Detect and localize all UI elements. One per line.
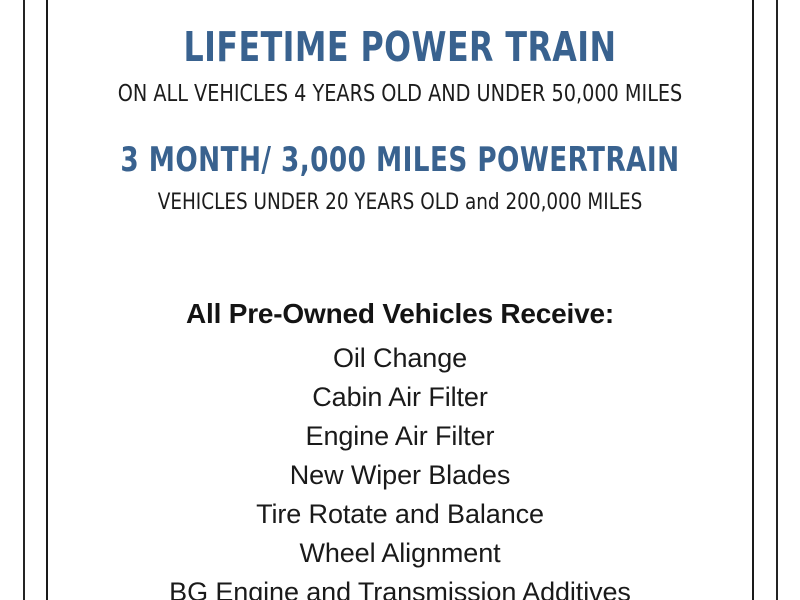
list-item: Tire Rotate and Balance bbox=[48, 495, 752, 534]
list-item: New Wiper Blades bbox=[48, 456, 752, 495]
warranty-subheading-3-month-powertrain: VEHICLES UNDER 20 YEARS OLD and 200,000 … bbox=[73, 192, 728, 214]
flyer-content: LIFETIME POWER TRAIN ON ALL VEHICLES 4 Y… bbox=[48, 0, 752, 600]
warranty-heading-3-month-powertrain: 3 MONTH/ 3,000 MILES POWERTRAIN bbox=[97, 143, 702, 177]
warranty-flyer: LIFETIME POWER TRAIN ON ALL VEHICLES 4 Y… bbox=[0, 0, 800, 600]
services-list: Oil Change Cabin Air Filter Engine Air F… bbox=[48, 339, 752, 600]
frame-rule-right-inner bbox=[752, 0, 754, 600]
list-item: Wheel Alignment bbox=[48, 534, 752, 573]
warranty-heading-lifetime-powertrain: LIFETIME POWER TRAIN bbox=[97, 27, 702, 68]
list-item: BG Engine and Transmission Additives bbox=[48, 573, 752, 600]
frame-rule-right-outer bbox=[776, 0, 778, 600]
list-item: Oil Change bbox=[48, 339, 752, 378]
services-heading: All Pre-Owned Vehicles Receive: bbox=[48, 300, 752, 328]
warranty-subheading-lifetime-powertrain: ON ALL VEHICLES 4 YEARS OLD AND UNDER 50… bbox=[73, 83, 728, 106]
list-item: Engine Air Filter bbox=[48, 417, 752, 456]
frame-rule-left-outer bbox=[23, 0, 25, 600]
list-item: Cabin Air Filter bbox=[48, 378, 752, 417]
